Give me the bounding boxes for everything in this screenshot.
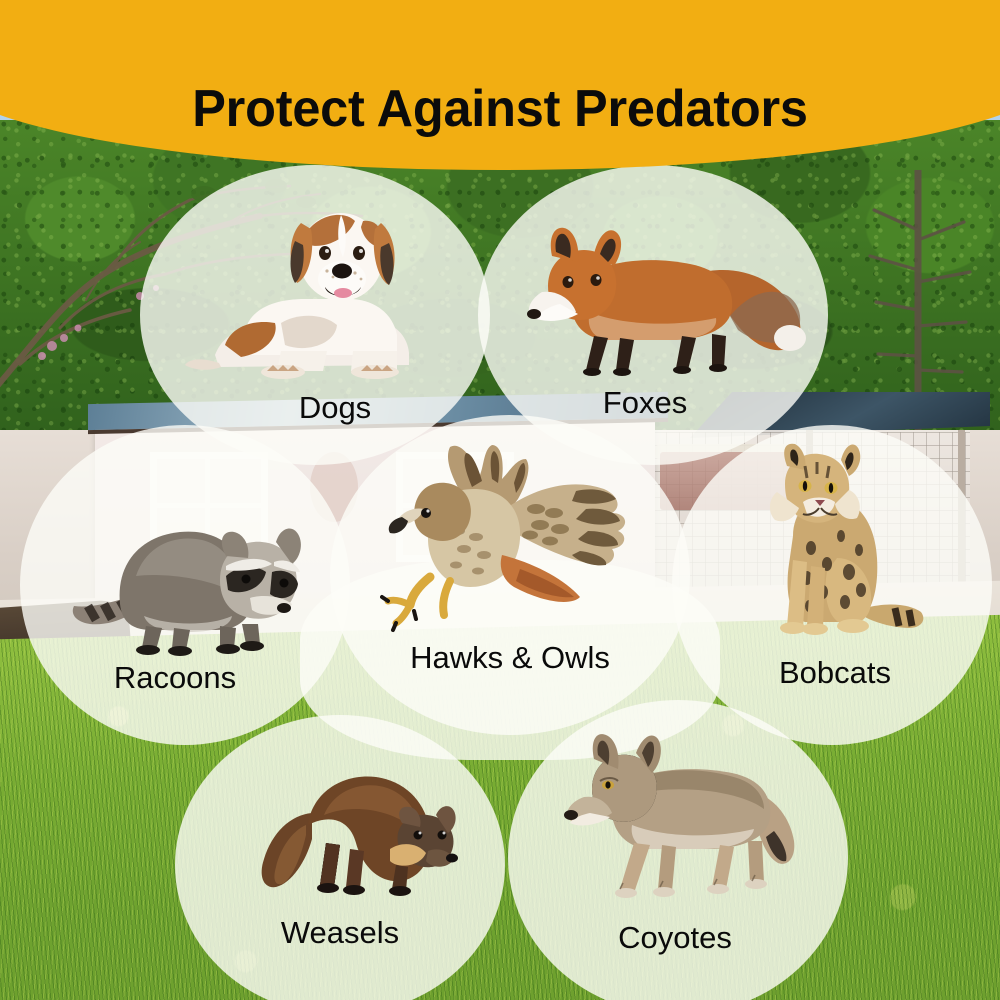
label-hawks-owls: Hawks & Owls: [385, 640, 635, 676]
bobcat-illustration: [745, 440, 935, 650]
label-foxes: Foxes: [535, 385, 755, 421]
weasel-illustration: [250, 755, 470, 905]
raccoon-illustration: [70, 480, 320, 660]
dog-illustration: [185, 195, 445, 385]
page-title: Protect Against Predators: [15, 83, 985, 135]
coyote-illustration: [560, 725, 810, 905]
label-coyotes: Coyotes: [560, 920, 790, 956]
hawk-illustration: [380, 435, 630, 635]
fox-illustration: [520, 220, 810, 390]
label-bobcats: Bobcats: [735, 655, 935, 691]
label-dogs: Dogs: [225, 390, 445, 426]
poster: Dogs: [0, 0, 1000, 1000]
label-weasels: Weasels: [230, 915, 450, 951]
label-racoons: Racoons: [60, 660, 290, 696]
